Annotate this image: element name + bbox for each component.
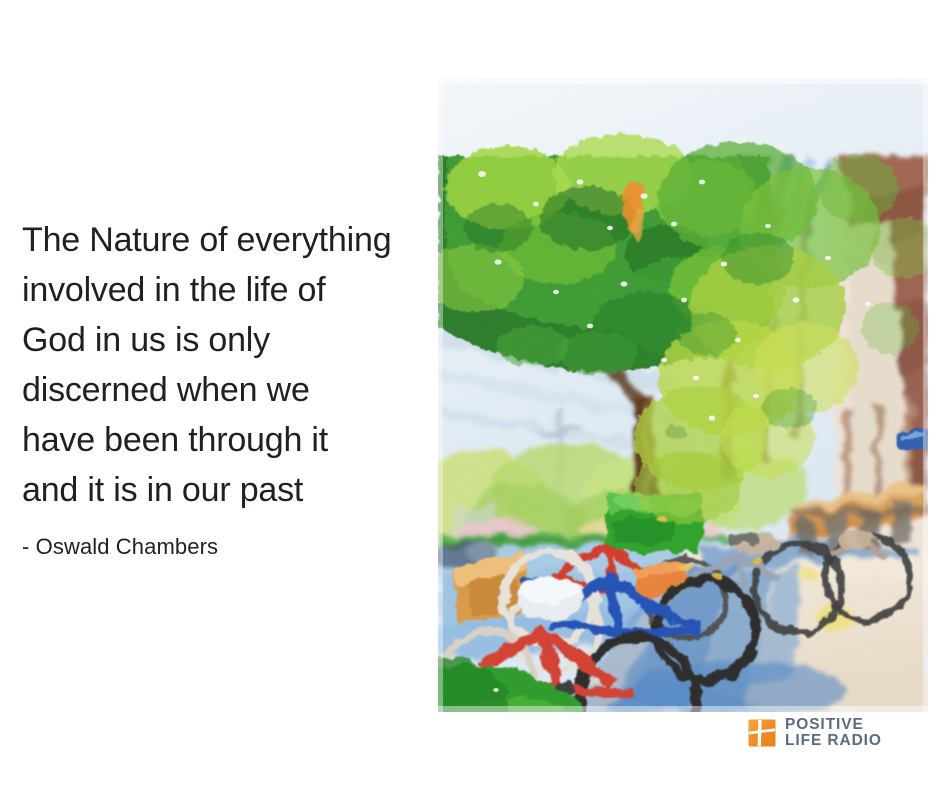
positive-life-radio-logo: POSITIVE LIFE RADIO (748, 717, 882, 749)
quote-text: The Nature of everything involved in the… (22, 215, 442, 515)
logo-line-1: POSITIVE (785, 717, 882, 733)
watercolor-street-photo (438, 78, 928, 712)
quote-block: The Nature of everything involved in the… (22, 215, 442, 562)
logo-line-2: LIFE RADIO (785, 733, 882, 749)
positive-life-radio-cross-icon (748, 719, 776, 747)
quote-attribution: - Oswald Chambers (22, 532, 442, 562)
logo-wordmark: POSITIVE LIFE RADIO (785, 717, 882, 749)
photo-frame (438, 78, 928, 712)
